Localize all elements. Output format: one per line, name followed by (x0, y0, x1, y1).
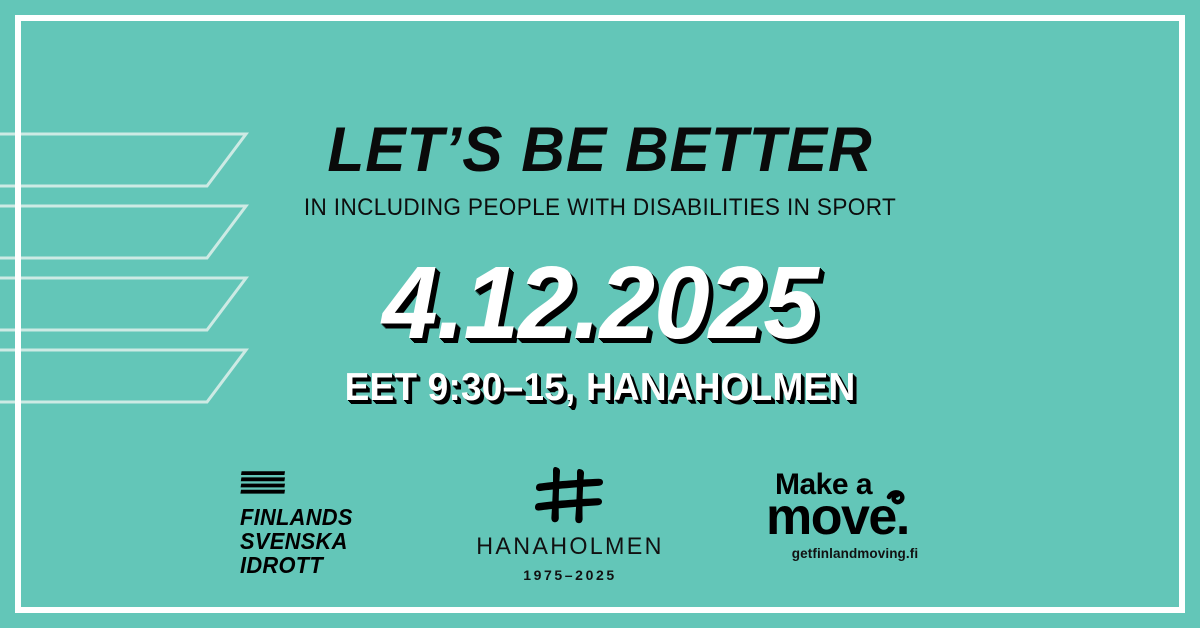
event-time-venue: EET 9:30–15, HANAHOLMEN (30, 366, 1170, 410)
poster-content: LET’S BE BETTER IN INCLUDING PEOPLE WITH… (0, 0, 1200, 628)
hanaholmen-name: HANAHOLMEN (473, 534, 667, 560)
logo-hanaholmen: HANAHOLMEN 1975–2025 (470, 462, 670, 583)
logo-finlands-svenska-idrott: FINLANDS SVENSKA IDROTT (240, 462, 390, 577)
logo-strip: FINLANDS SVENSKA IDROTT HANAHOLMEN 1975–… (0, 462, 1200, 592)
page-title: LET’S BE BETTER (24, 118, 1176, 182)
fsi-name-line-2: SVENSKA (240, 529, 383, 553)
fsi-name-line-3: IDROTT (240, 553, 383, 577)
make-a-move-url: getfinlandmoving.fi (750, 546, 960, 562)
logo-make-a-move: Make a move. getfinlandmoving.fi (750, 462, 960, 562)
hash-monogram-icon (534, 464, 606, 526)
flag-bars-icon (240, 470, 286, 496)
event-poster: LET’S BE BETTER IN INCLUDING PEOPLE WITH… (0, 0, 1200, 628)
make-a-move-wordmark: Make a move. (758, 466, 953, 544)
event-date: 4.12.2025 (18, 248, 1182, 358)
fsi-name-line-1: FINLANDS (240, 505, 383, 529)
hanaholmen-years: 1975–2025 (470, 567, 670, 583)
page-subtitle: IN INCLUDING PEOPLE WITH DISABILITIES IN… (36, 194, 1164, 222)
